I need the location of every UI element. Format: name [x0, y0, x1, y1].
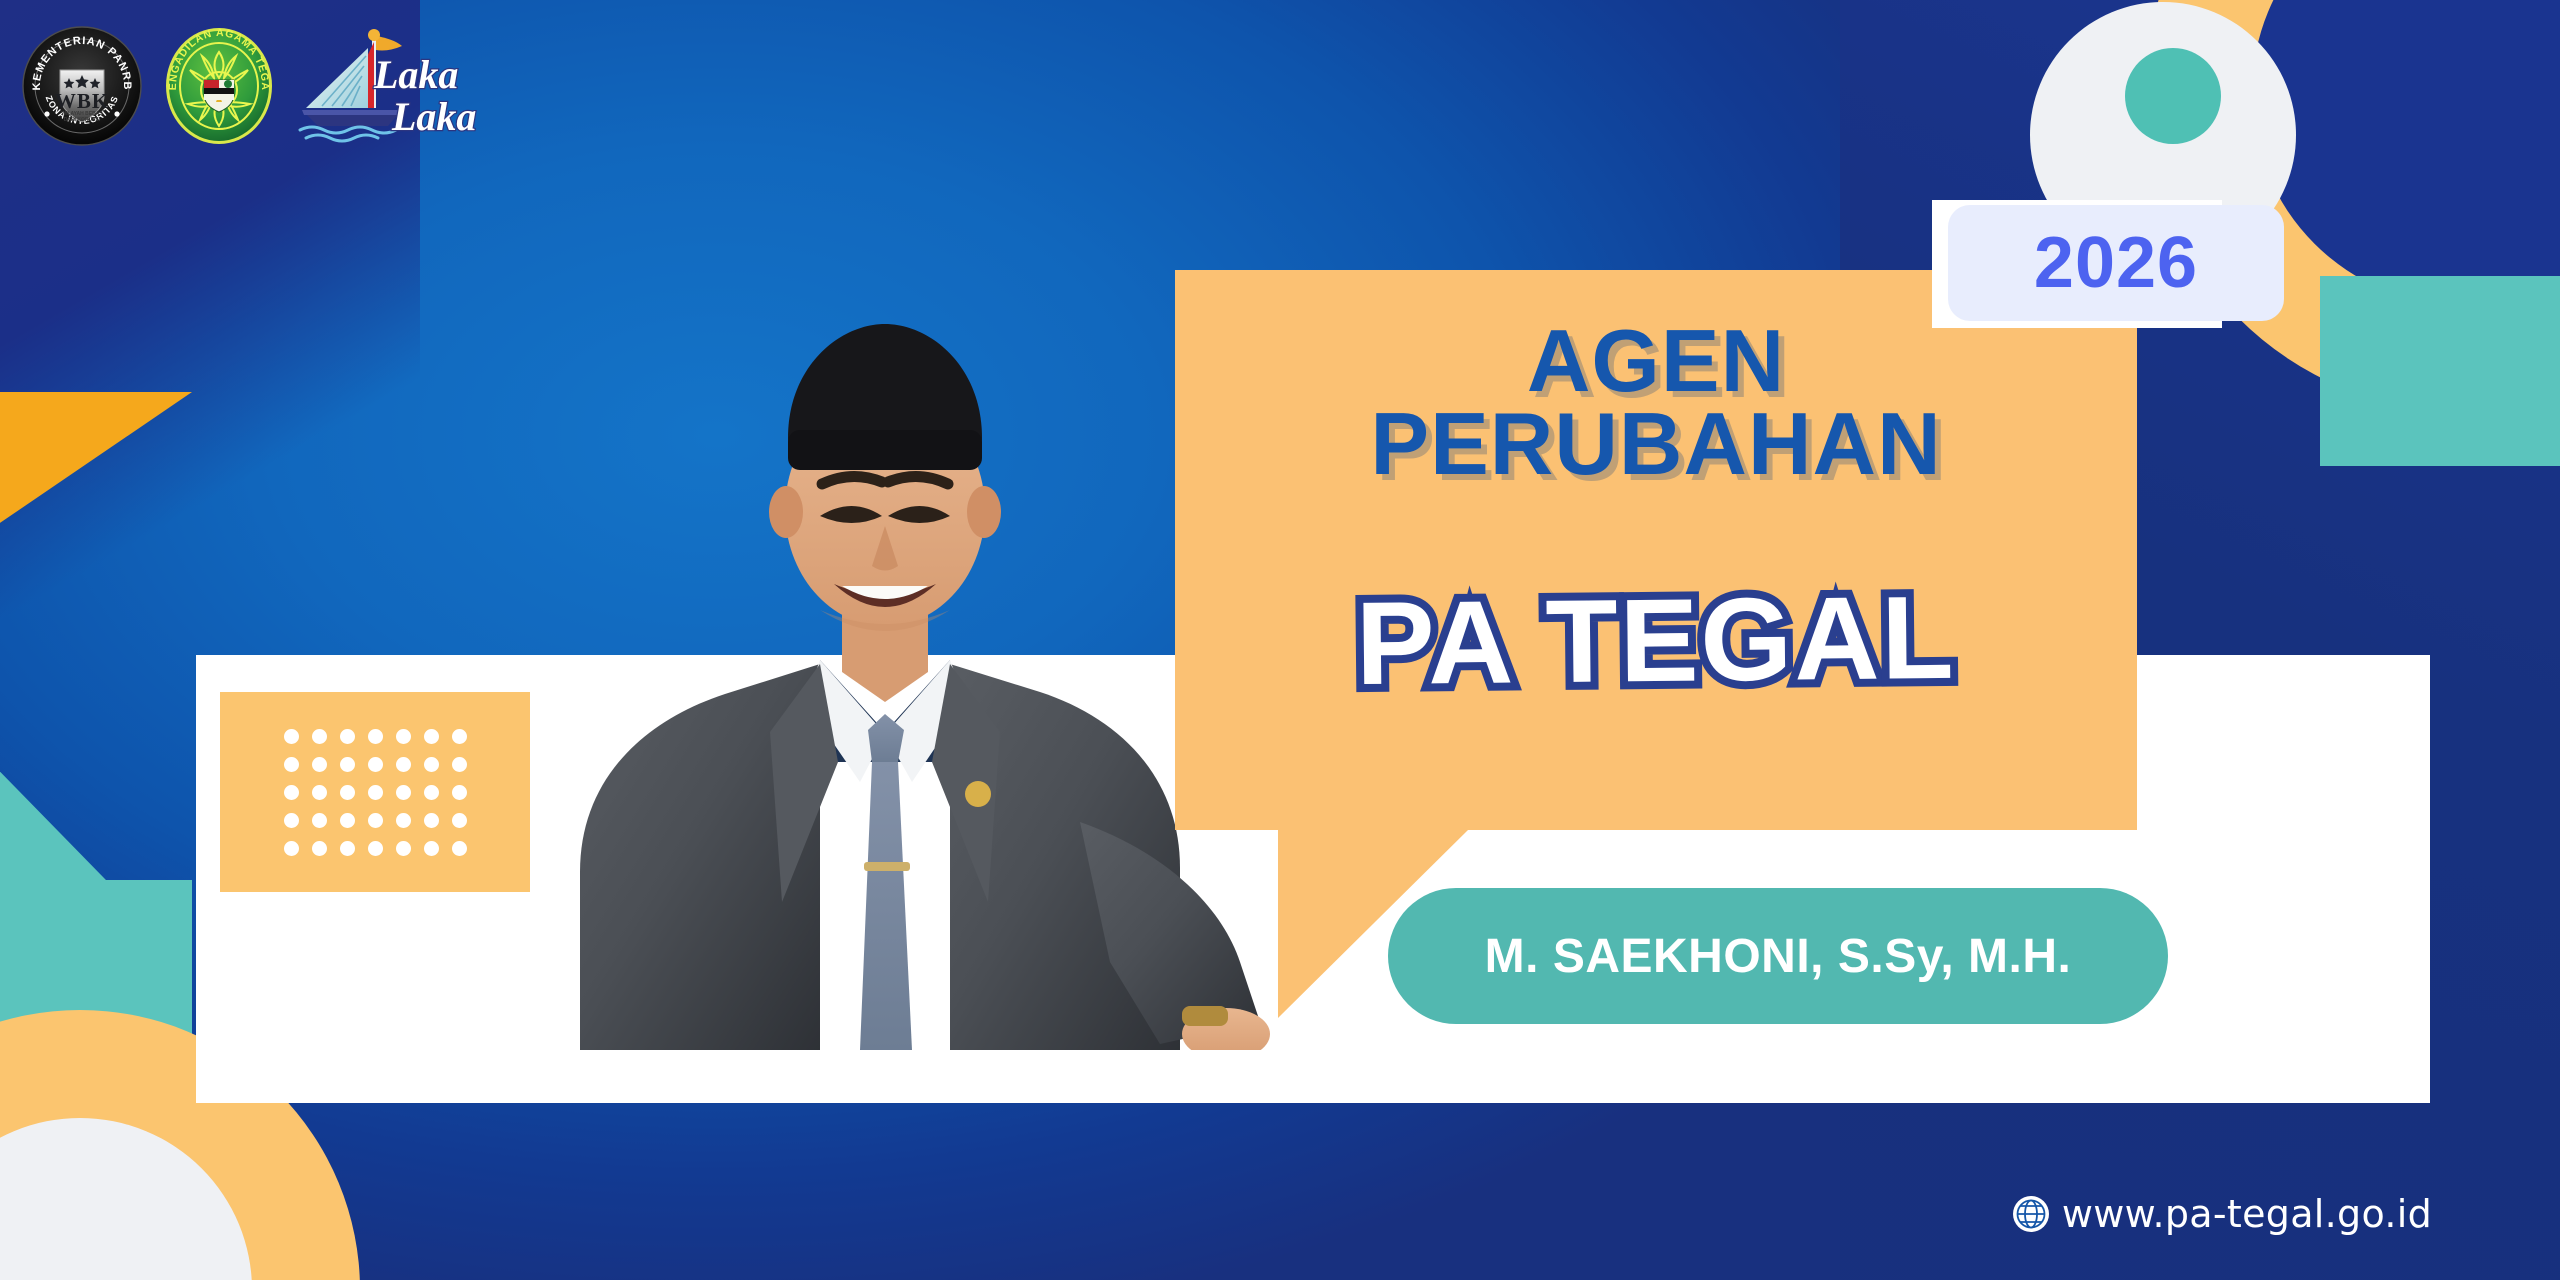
portrait-photo	[520, 262, 1280, 1050]
grid-dot	[340, 729, 355, 744]
headline-block: AGEN PERUBAHAN	[1175, 320, 2137, 485]
grid-dot	[312, 813, 327, 828]
grid-dot	[368, 757, 383, 772]
grid-dot	[452, 841, 467, 856]
name-pill: M. SAEKHONI, S.Sy, M.H.	[1388, 888, 2168, 1024]
grid-dot	[396, 729, 411, 744]
grid-dot	[284, 813, 299, 828]
headline-emphasis-block: PA TEGAL	[1175, 582, 2137, 700]
grid-dot	[340, 841, 355, 856]
website-footer[interactable]: www.pa-tegal.go.id	[2012, 1192, 2432, 1236]
grid-dot	[284, 841, 299, 856]
grid-dot	[396, 757, 411, 772]
grid-dot	[284, 757, 299, 772]
grid-dot	[424, 841, 439, 856]
grid-dot	[452, 813, 467, 828]
pengadilan-agama-tegal-logo: PENGADILAN AGAMA TEGAL	[164, 26, 274, 146]
grid-dot	[424, 729, 439, 744]
grid-dot	[368, 785, 383, 800]
logo-row: KEMENTERIAN PANRB ZONA INTEGRITAS WBK WI…	[22, 26, 511, 142]
grid-dot	[312, 841, 327, 856]
grid-dot	[424, 785, 439, 800]
grid-dot	[396, 813, 411, 828]
dot-teal-top-right	[2125, 48, 2221, 144]
grid-dot	[284, 729, 299, 744]
grid-dot	[424, 813, 439, 828]
svg-text:DARI KORUPSI: DARI KORUPSI	[64, 117, 101, 123]
name-pill-label: M. SAEKHONI, S.Sy, M.H.	[1485, 929, 2072, 984]
grid-dot	[424, 757, 439, 772]
svg-text:Laka: Laka	[373, 52, 458, 97]
grid-dot	[368, 729, 383, 744]
grid-dot	[452, 757, 467, 772]
rect-teal-top-right	[2320, 276, 2560, 466]
dot-grid	[284, 729, 467, 856]
grid-dot	[396, 785, 411, 800]
grid-dot	[340, 785, 355, 800]
headline-text: AGEN PERUBAHAN	[1191, 320, 2121, 485]
year-badge-label: 2026	[2034, 227, 2198, 299]
year-badge: 2026	[1948, 205, 2284, 321]
svg-text:WBK: WBK	[55, 89, 109, 113]
website-url: www.pa-tegal.go.id	[2062, 1192, 2432, 1236]
svg-text:Laka: Laka	[391, 94, 476, 139]
globe-icon	[2012, 1195, 2050, 1233]
dot-pattern-card	[220, 692, 530, 892]
wbk-zona-integritas-logo: KEMENTERIAN PANRB ZONA INTEGRITAS WBK WI…	[22, 26, 142, 146]
grid-dot	[312, 757, 327, 772]
grid-dot	[312, 729, 327, 744]
grid-dot	[340, 813, 355, 828]
grid-dot	[452, 785, 467, 800]
grid-dot	[340, 757, 355, 772]
agen-perubahan-banner: AGEN PERUBAHAN PA TEGAL 2026 M. SAEKHONI…	[0, 0, 2560, 1280]
grid-dot	[452, 729, 467, 744]
headline-emphasis-text: PA TEGAL	[1356, 579, 1957, 703]
laka-laka-logo: Laka Laka	[296, 26, 511, 146]
headline-line-2: PERUBAHAN	[1191, 403, 2121, 486]
grid-dot	[368, 813, 383, 828]
headline-line-1: AGEN	[1191, 320, 2121, 403]
grid-dot	[396, 841, 411, 856]
grid-dot	[284, 785, 299, 800]
grid-dot	[368, 841, 383, 856]
grid-dot	[312, 785, 327, 800]
